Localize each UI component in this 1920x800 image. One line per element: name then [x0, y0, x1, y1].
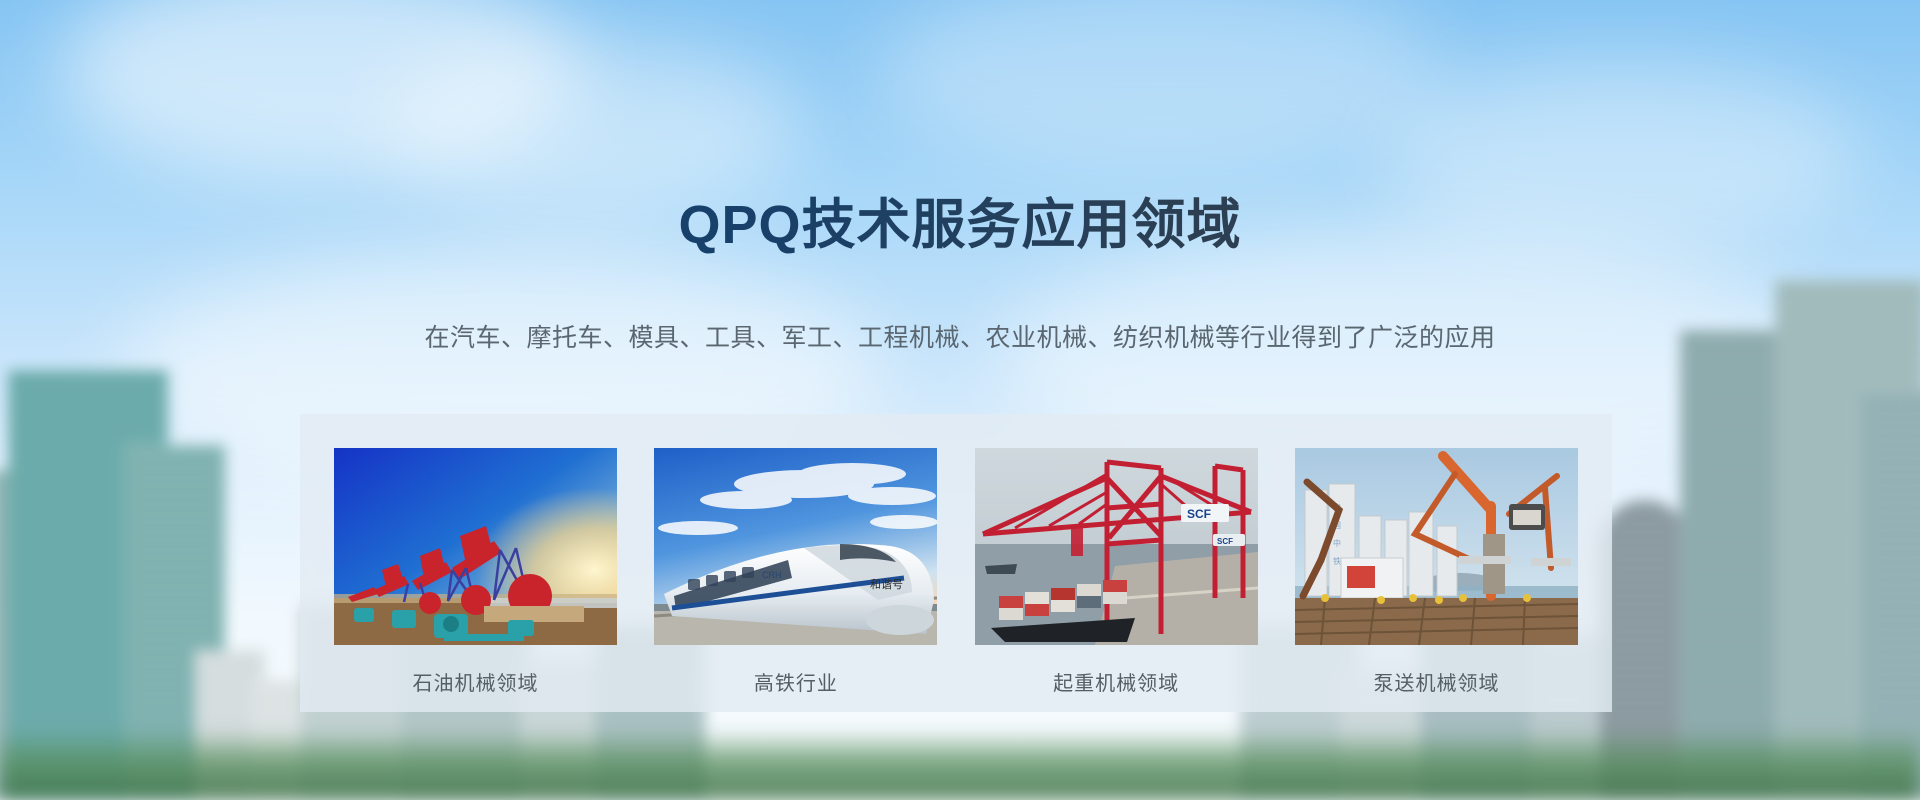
- foreground-greenery: [0, 730, 1920, 800]
- svg-text:和谐号: 和谐号: [870, 577, 903, 591]
- page-title: QPQ技术服务应用领域: [0, 196, 1920, 254]
- skyline-building: [1860, 390, 1920, 800]
- svg-text:SCF: SCF: [1187, 507, 1211, 521]
- skyline-building: [8, 370, 168, 800]
- skyline-building: [0, 470, 110, 800]
- card-caption: 起重机械领域: [975, 667, 1258, 696]
- card-caption: 高铁行业: [654, 667, 937, 696]
- page-subtitle: 在汽车、摩托车、模具、工具、军工、工程机械、农业机械、纺织机械等行业得到了广泛的…: [0, 322, 1920, 355]
- concrete-pump-photo[interactable]: 中国 中铁: [1295, 448, 1578, 645]
- skyline-building: [195, 650, 265, 800]
- cloud-shape: [880, 0, 1440, 170]
- skyline-building: [1600, 500, 1690, 800]
- hero-banner: QPQ技术服务应用领域 在汽车、摩托车、模具、工具、军工、工程机械、农业机械、纺…: [0, 0, 1920, 800]
- card-pumping-machinery[interactable]: 中国 中铁: [1295, 448, 1578, 696]
- application-fields-panel: 石油机械领域: [300, 414, 1612, 712]
- card-lifting-machinery[interactable]: SCF SCF: [975, 448, 1258, 696]
- card-oil-machinery[interactable]: 石油机械领域: [334, 448, 617, 696]
- skyline-building: [125, 445, 225, 800]
- card-caption: 石油机械领域: [334, 667, 617, 696]
- oil-pumpjacks-photo[interactable]: [334, 448, 617, 645]
- high-speed-train-photo[interactable]: CRH 和谐号: [654, 448, 937, 645]
- svg-text:铁: 铁: [1333, 556, 1341, 566]
- svg-text:CRH: CRH: [762, 570, 782, 580]
- card-caption: 泵送机械领域: [1295, 667, 1578, 696]
- svg-text:SCF: SCF: [1217, 537, 1233, 546]
- card-high-speed-rail[interactable]: CRH 和谐号 高铁行业: [654, 448, 937, 696]
- svg-text:中: 中: [1333, 538, 1341, 548]
- cloud-shape: [380, 40, 800, 220]
- port-gantry-crane-photo[interactable]: SCF SCF: [975, 448, 1258, 645]
